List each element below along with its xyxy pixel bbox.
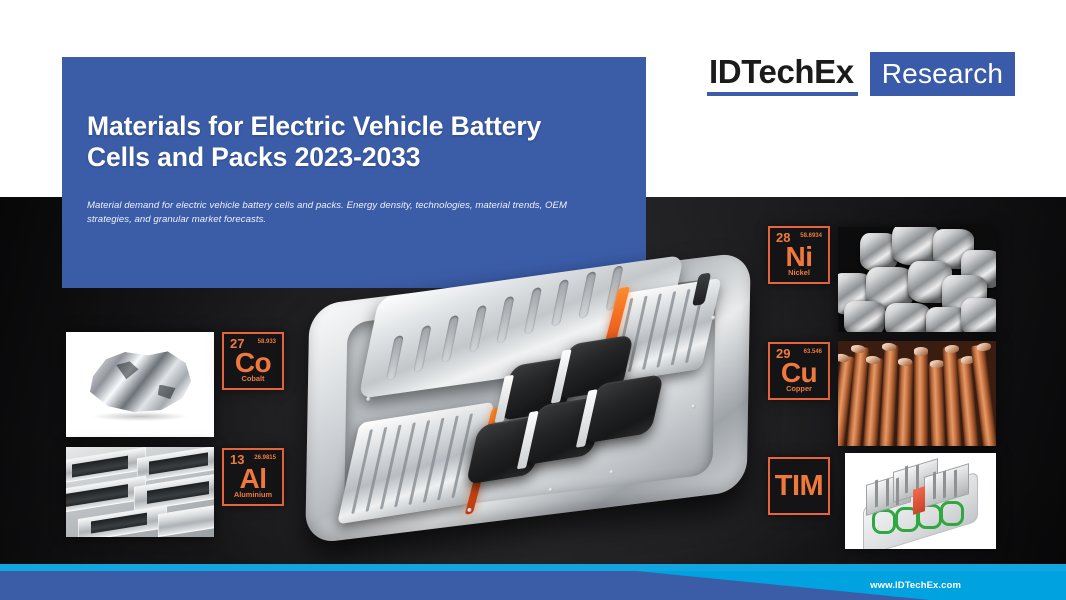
nickel-ore-photo bbox=[838, 227, 996, 332]
lid-slot bbox=[441, 315, 460, 363]
element-symbol: TIM bbox=[770, 471, 828, 501]
thermal-interface-material-diagram bbox=[845, 453, 996, 549]
report-cover: IDTechEx Research Materials for Electric… bbox=[0, 0, 1066, 600]
ore-rock bbox=[844, 301, 885, 333]
page-title: Materials for Electric Vehicle Battery C… bbox=[87, 111, 602, 173]
aluminium-extrusions-photo bbox=[66, 447, 214, 537]
pack-perspective-stage bbox=[286, 202, 768, 590]
module-fin bbox=[933, 472, 936, 500]
logo-wordmark: IDTechEx bbox=[707, 52, 858, 96]
lid-slot bbox=[496, 296, 515, 344]
lid-slot bbox=[413, 325, 432, 373]
ev-battery-pack-render bbox=[292, 236, 762, 556]
element-atomic-mass: 26.9815 bbox=[254, 454, 276, 462]
copper-rod bbox=[896, 360, 913, 446]
element-card-aluminium[interactable]: 13 26.9815 Al Aluminium bbox=[222, 448, 284, 506]
copper-rod-tip bbox=[977, 342, 992, 352]
module-fin bbox=[875, 479, 878, 507]
footer-website-link[interactable]: www.IDTechEx.com bbox=[870, 571, 961, 600]
footer-bar: www.IDTechEx.com bbox=[0, 564, 1066, 600]
module-fin bbox=[954, 470, 957, 498]
cobalt-ore-photo bbox=[66, 332, 214, 437]
copper-rod bbox=[914, 349, 928, 446]
pack-tray bbox=[305, 251, 751, 544]
element-card-copper[interactable]: 29 63.546 Cu Copper bbox=[768, 342, 830, 400]
ore-rock bbox=[961, 298, 996, 332]
copper-rods-photo bbox=[838, 341, 996, 446]
thermal-interface-layer bbox=[913, 486, 925, 515]
lid-slot bbox=[468, 305, 487, 353]
element-name: Copper bbox=[770, 384, 828, 393]
page-subtitle: Material demand for electric vehicle bat… bbox=[87, 199, 602, 226]
lid-slot bbox=[578, 271, 597, 319]
element-card-tim[interactable]: TIM bbox=[768, 457, 830, 515]
module-fin bbox=[886, 478, 889, 506]
logo-research-badge: Research bbox=[870, 52, 1015, 96]
element-name: Nickel bbox=[770, 268, 828, 277]
footer-accent-strip bbox=[0, 564, 1066, 571]
ore-rock bbox=[885, 303, 929, 332]
ore-lump-shape bbox=[87, 349, 194, 414]
idtechex-logo[interactable]: IDTechEx Research bbox=[707, 52, 1015, 96]
copper-rod-tip bbox=[914, 347, 928, 355]
lid-slot bbox=[386, 335, 404, 381]
lid-slot bbox=[523, 287, 542, 335]
module-fin bbox=[905, 466, 908, 494]
element-card-cobalt[interactable]: 27 58.933 Co Cobalt bbox=[222, 332, 284, 390]
element-name: Aluminium bbox=[224, 490, 282, 499]
module-fin bbox=[896, 477, 899, 505]
element-atomic-mass: 58.6934 bbox=[800, 232, 822, 240]
copper-rod-tip bbox=[945, 345, 960, 354]
module-fin bbox=[943, 471, 946, 499]
ore-shadow bbox=[93, 412, 188, 421]
lid-slot bbox=[551, 279, 570, 327]
element-name: Cobalt bbox=[224, 374, 282, 383]
element-atomic-mass: 63.546 bbox=[804, 348, 822, 356]
element-card-nickel[interactable]: 28 58.6934 Ni Nickel bbox=[768, 226, 830, 284]
coolant-channel bbox=[940, 501, 964, 526]
element-atomic-mass: 58.933 bbox=[258, 338, 276, 346]
